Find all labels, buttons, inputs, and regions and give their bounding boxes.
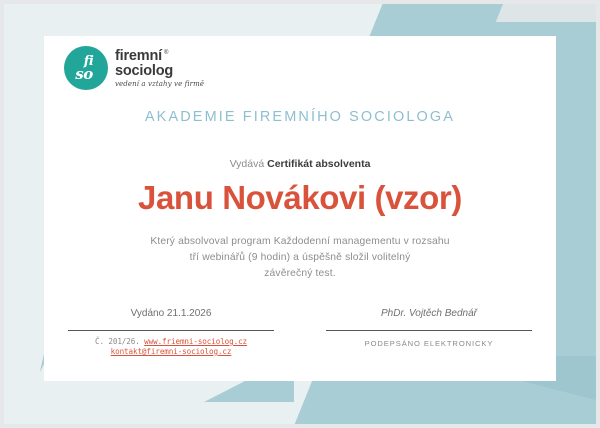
issuance-prefix: Vydává (230, 158, 265, 170)
description-line-3: závěrečný test. (84, 266, 516, 282)
signatory-block: PhDr. Vojtěch Bednář PODEPSÁNO ELEKTRONI… (300, 308, 532, 357)
description-text: Který absolvoval program Každodenní mana… (84, 234, 516, 282)
logo-tagline: vedení a vztahy ve firmě (115, 81, 204, 88)
signature-row: Vydáno 21.1.2026 Č. 201/26. www.friemni-… (68, 308, 532, 357)
issuance-line: Vydává Certifikát absolventa (44, 158, 556, 170)
logo-monogram-bottom: so (64, 68, 108, 80)
firemni-sociolog-logo-icon: fi so (64, 46, 108, 90)
brand-logo: fi so firemní® sociolog vedení a vztahy … (64, 46, 204, 90)
issue-date-label: Vydáno 21.1.2026 (68, 308, 274, 319)
logo-word-sociolog: sociolog (115, 64, 204, 79)
background-diagonal-top-right (496, 4, 596, 22)
certificate-kind: Certifikát absolventa (267, 158, 370, 170)
recipient-name: Janu Novákovi (vzor) (44, 179, 556, 217)
electronic-signature-note: PODEPSÁNO ELEKTRONICKY (326, 339, 532, 349)
logo-word-firemni: firemní® (115, 49, 168, 64)
description-line-2: tří webinářů (9 hodin) a úspěšně složil … (84, 250, 516, 266)
logo-monogram: fi so (64, 56, 108, 80)
website-link[interactable]: www.friemni-sociolog.cz (144, 337, 247, 346)
certificate-number: Č. 201/26. (95, 337, 140, 346)
academy-title: AKADEMIE FIREMNÍHO SOCIOLOGA (44, 109, 556, 125)
description-line-1: Který absolvoval program Každodenní mana… (84, 234, 516, 250)
certificate-document: fi so firemní® sociolog vedení a vztahy … (0, 0, 600, 428)
email-link[interactable]: kontakt@firemni-sociolog.cz (111, 347, 232, 356)
issue-date-block: Vydáno 21.1.2026 Č. 201/26. www.friemni-… (68, 308, 300, 357)
signatory-name: PhDr. Vojtěch Bednář (326, 308, 532, 319)
registered-trademark-icon: ® (164, 50, 168, 56)
certificate-reference-footer: Č. 201/26. www.friemni-sociolog.cz konta… (68, 337, 274, 357)
certificate-card: fi so firemní® sociolog vedení a vztahy … (44, 36, 556, 381)
issue-date-rule (68, 330, 274, 331)
logo-word-firemni-text: firemní (115, 48, 162, 64)
logo-wordmark: firemní® sociolog vedení a vztahy ve fir… (115, 48, 204, 88)
signatory-rule (326, 330, 532, 331)
